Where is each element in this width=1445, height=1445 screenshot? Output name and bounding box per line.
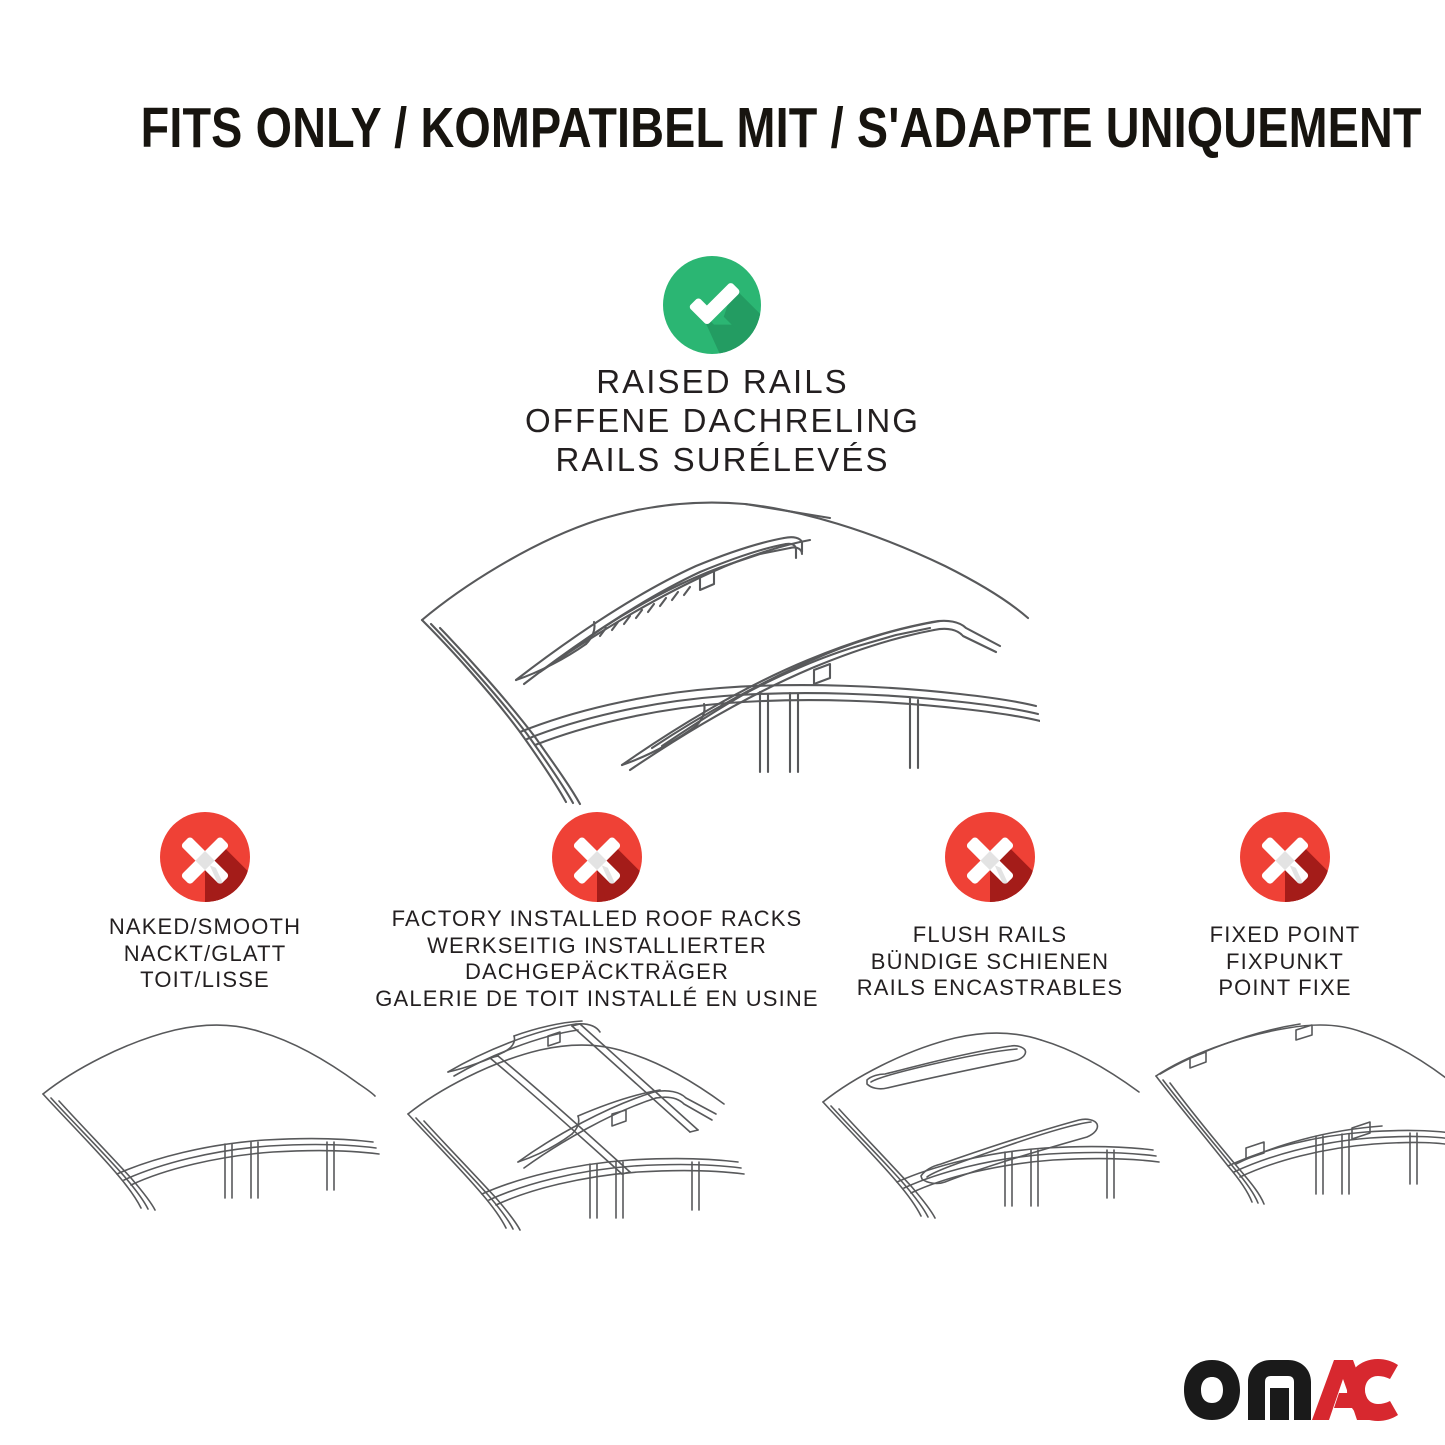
check-circle-icon [663, 256, 761, 354]
incompatible-caption-2: FLUSH RAILS BÜNDIGE SCHIENEN RAILS ENCAS… [805, 922, 1175, 1002]
incompatible-line-en-0: NAKED/SMOOTH [25, 914, 385, 941]
incompatible-line-en-2: FLUSH RAILS [805, 922, 1175, 949]
incompatible-option-flush-rails: FLUSH RAILS BÜNDIGE SCHIENEN RAILS ENCAS… [805, 812, 1175, 1241]
compatible-line-fr: RAILS SURÉLEVÉS [0, 440, 1445, 479]
incompatible-line-de-3: FIXPUNKT [1150, 949, 1420, 976]
incompatible-caption-1: FACTORY INSTALLED ROOF RACKS WERKSEITIG … [372, 906, 822, 1012]
compatible-line-en: RAISED RAILS [0, 362, 1445, 401]
car-roof-raised-rails-illustration [400, 480, 1040, 810]
incompatible-line-de1-1: WERKSEITIG INSTALLIERTER [372, 933, 822, 960]
car-roof-factory-rack-illustration [396, 1018, 748, 1253]
incompatible-line-fr-0: TOIT/LISSE [25, 967, 385, 994]
incompatible-line-de-2: BÜNDIGE SCHIENEN [805, 949, 1175, 976]
incompatible-line-fr-2: RAILS ENCASTRABLES [805, 975, 1175, 1002]
incompatible-caption-3: FIXED POINT FIXPUNKT POINT FIXE [1150, 922, 1420, 1002]
incompatible-icon-wrap-0 [25, 812, 385, 904]
incompatible-icon-wrap-3 [1150, 812, 1420, 904]
incompatible-option-fixed-point: FIXED POINT FIXPUNKT POINT FIXE [1150, 812, 1420, 1241]
incompatible-line-fr-1: GALERIE DE TOIT INSTALLÉ EN USINE [372, 986, 822, 1013]
compatible-caption: RAISED RAILS OFFENE DACHRELING RAILS SUR… [0, 362, 1445, 479]
car-roof-fixed-point-illustration [1150, 1016, 1445, 1241]
x-circle-icon [160, 812, 250, 902]
page-title-text: FITS ONLY / KOMPATIBEL MIT / S'ADAPTE UN… [141, 96, 1422, 160]
incompatible-option-factory-rack: FACTORY INSTALLED ROOF RACKS WERKSEITIG … [372, 812, 822, 1253]
incompatible-line-de-0: NACKT/GLATT [25, 941, 385, 968]
incompatible-icon-wrap-2 [805, 812, 1175, 904]
x-circle-icon [552, 812, 642, 902]
incompatible-line-de2-1: DACHGEPÄCKTRÄGER [372, 959, 822, 986]
x-circle-icon [1240, 812, 1330, 902]
incompatible-icon-wrap-1 [372, 812, 822, 904]
incompatible-line-fr-3: POINT FIXE [1150, 975, 1420, 1002]
incompatible-option-naked-smooth: NAKED/SMOOTH NACKT/GLATT TOIT/LISSE [25, 812, 385, 1233]
omac-logo [1182, 1358, 1400, 1424]
incompatible-caption-0: NAKED/SMOOTH NACKT/GLATT TOIT/LISSE [25, 914, 385, 994]
page-title: FITS ONLY / KOMPATIBEL MIT / S'ADAPTE UN… [0, 96, 1445, 160]
compatible-line-de: OFFENE DACHRELING [0, 401, 1445, 440]
car-roof-naked-smooth-illustration [29, 1008, 381, 1233]
incompatible-line-en-3: FIXED POINT [1150, 922, 1420, 949]
incompatible-line-en-1: FACTORY INSTALLED ROOF RACKS [372, 906, 822, 933]
x-circle-icon [945, 812, 1035, 902]
car-roof-flush-rails-illustration [809, 1016, 1161, 1241]
